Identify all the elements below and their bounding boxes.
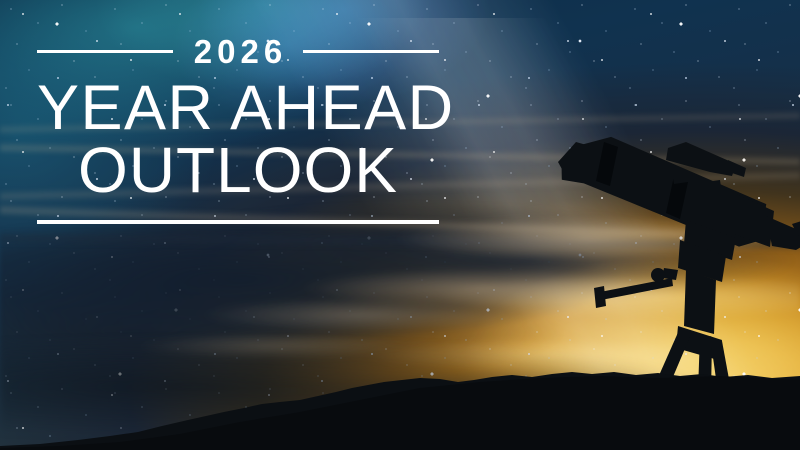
- headline-line-1: YEAR AHEAD: [37, 78, 439, 139]
- eyebrow-row: 2026: [37, 30, 439, 72]
- bottom-rule: [37, 220, 439, 224]
- year-ahead-outlook-banner: 2026 YEAR AHEAD OUTLOOK: [0, 0, 800, 450]
- eyebrow-rule-left: [37, 50, 173, 53]
- headline-line-2: OUTLOOK: [37, 139, 439, 201]
- year-label: 2026: [173, 35, 303, 68]
- rocky-ridge-silhouette: [0, 360, 800, 450]
- title-block: 2026 YEAR AHEAD OUTLOOK: [37, 30, 439, 224]
- eyebrow-rule-right: [303, 50, 439, 53]
- page-title: YEAR AHEAD OUTLOOK: [37, 78, 439, 201]
